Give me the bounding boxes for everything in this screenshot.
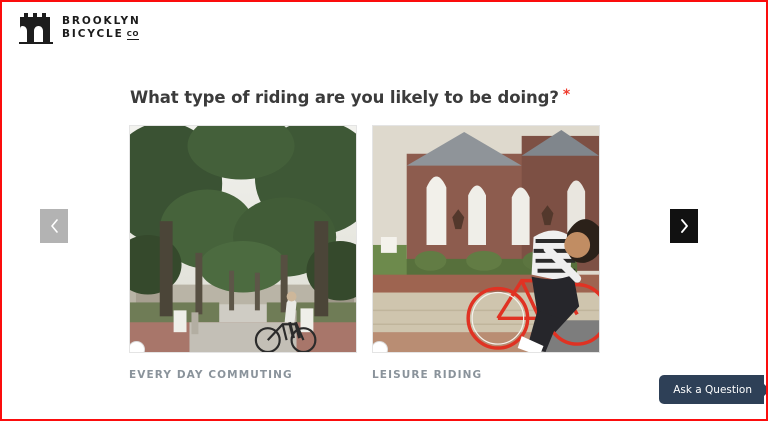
- brand-suffix: CO: [127, 31, 139, 40]
- option-card-leisure-riding[interactable]: LEISURE RIDING: [372, 125, 600, 381]
- option-list: EVERY DAY COMMUTING: [129, 125, 600, 381]
- option-label-leisure-riding: LEISURE RIDING: [372, 369, 600, 381]
- question-text: What type of riding are you likely to be…: [130, 88, 559, 107]
- ask-a-question-button[interactable]: Ask a Question: [659, 375, 764, 404]
- radio-every-day-commuting[interactable]: [129, 341, 145, 353]
- option-image-leisure-riding[interactable]: [372, 125, 600, 353]
- ask-a-question-label: Ask a Question: [673, 384, 752, 396]
- brand-line-2-text: BICYCLE: [62, 29, 124, 40]
- carousel-next-button[interactable]: [670, 209, 698, 243]
- required-asterisk: *: [563, 87, 570, 103]
- option-image-every-day-commuting[interactable]: [129, 125, 357, 353]
- chevron-left-icon: [50, 219, 59, 233]
- chevron-right-icon: [680, 219, 689, 233]
- brand-line-2: BICYCLE CO: [62, 29, 141, 40]
- brand-line-1: BROOKLYN: [62, 16, 141, 27]
- option-card-every-day-commuting[interactable]: EVERY DAY COMMUTING: [129, 125, 357, 381]
- brand-wordmark: BROOKLYN BICYCLE CO: [62, 16, 141, 40]
- brand-logo[interactable]: BROOKLYN BICYCLE CO: [19, 11, 141, 44]
- site-header: BROOKLYN BICYCLE CO: [2, 2, 766, 64]
- question-title: What type of riding are you likely to be…: [130, 88, 570, 107]
- carousel-prev-button[interactable]: [40, 209, 68, 243]
- radio-leisure-riding[interactable]: [372, 341, 388, 353]
- brooklyn-bridge-arch-icon: [19, 11, 53, 44]
- option-label-every-day-commuting: EVERY DAY COMMUTING: [129, 369, 357, 381]
- page-frame: BROOKLYN BICYCLE CO What type of riding …: [0, 0, 768, 421]
